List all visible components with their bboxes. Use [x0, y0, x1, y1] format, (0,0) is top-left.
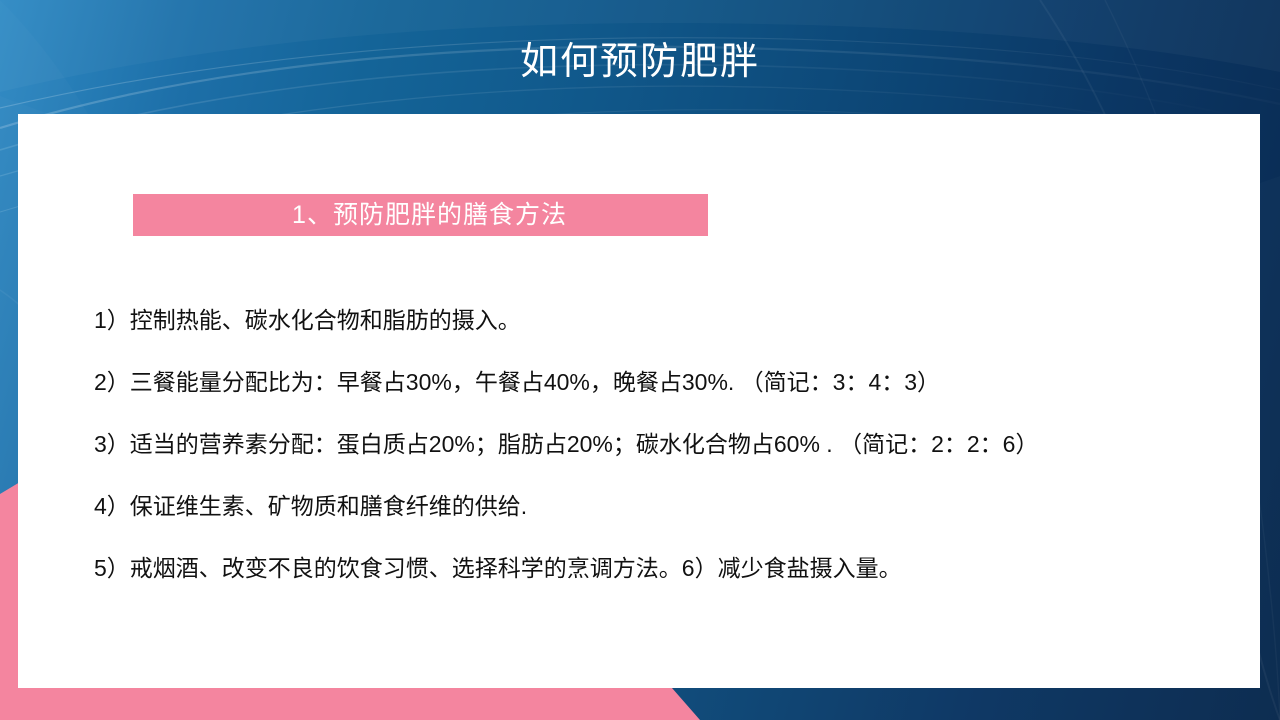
body-line: 4）保证维生素、矿物质和膳食纤维的供给. [94, 490, 1224, 522]
body-line: 5）戒烟酒、改变不良的饮食习惯、选择科学的烹调方法。6）减少食盐摄入量。 [94, 552, 1224, 584]
section-banner: 1、预防肥胖的膳食方法 [133, 194, 708, 236]
slide-title: 如何预防肥胖 [0, 36, 1280, 88]
decoration-pink-bottom-band [0, 688, 700, 720]
body-line: 1）控制热能、碳水化合物和脂肪的摄入。 [94, 304, 1224, 336]
section-banner-label: 1、预防肥胖的膳食方法 [274, 194, 567, 236]
body-line: 3）适当的营养素分配：蛋白质占20%；脂肪占20%；碳水化合物占60% . （简… [94, 428, 1224, 460]
slide-canvas: 如何预防肥胖 1、预防肥胖的膳食方法 1）控制热能、碳水化合物和脂肪的摄入。 2… [0, 0, 1280, 720]
body-line: 2）三餐能量分配比为：早餐占30%，午餐占40%，晚餐占30%. （简记：3：4… [94, 366, 1224, 398]
content-card: 1、预防肥胖的膳食方法 1）控制热能、碳水化合物和脂肪的摄入。 2）三餐能量分配… [18, 114, 1260, 688]
body-text-list: 1）控制热能、碳水化合物和脂肪的摄入。 2）三餐能量分配比为：早餐占30%，午餐… [94, 304, 1224, 584]
